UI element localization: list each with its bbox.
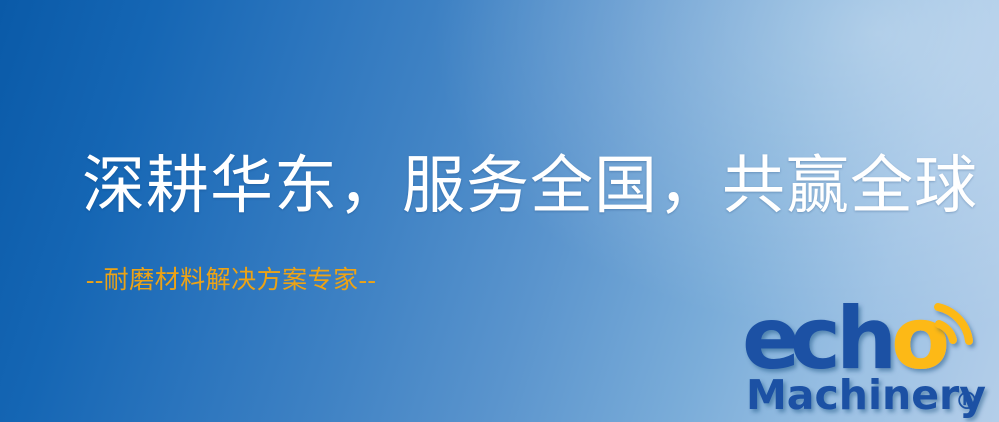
logo-tagline-group: Machinery ®: [746, 371, 986, 419]
banner-headline: 深耕华东，服务全国，共赢全球: [82, 152, 978, 220]
logo-tagline: Machinery: [746, 371, 986, 419]
hero-banner: 深耕华东，服务全国，共赢全球 --耐磨材料解决方案专家-- e c h o: [0, 0, 999, 422]
registered-trademark-icon: ®: [955, 387, 979, 415]
echo-machinery-logo[interactable]: e c h o Machinery ®: [742, 296, 994, 416]
banner-subtitle: --耐磨材料解决方案专家--: [86, 267, 376, 295]
